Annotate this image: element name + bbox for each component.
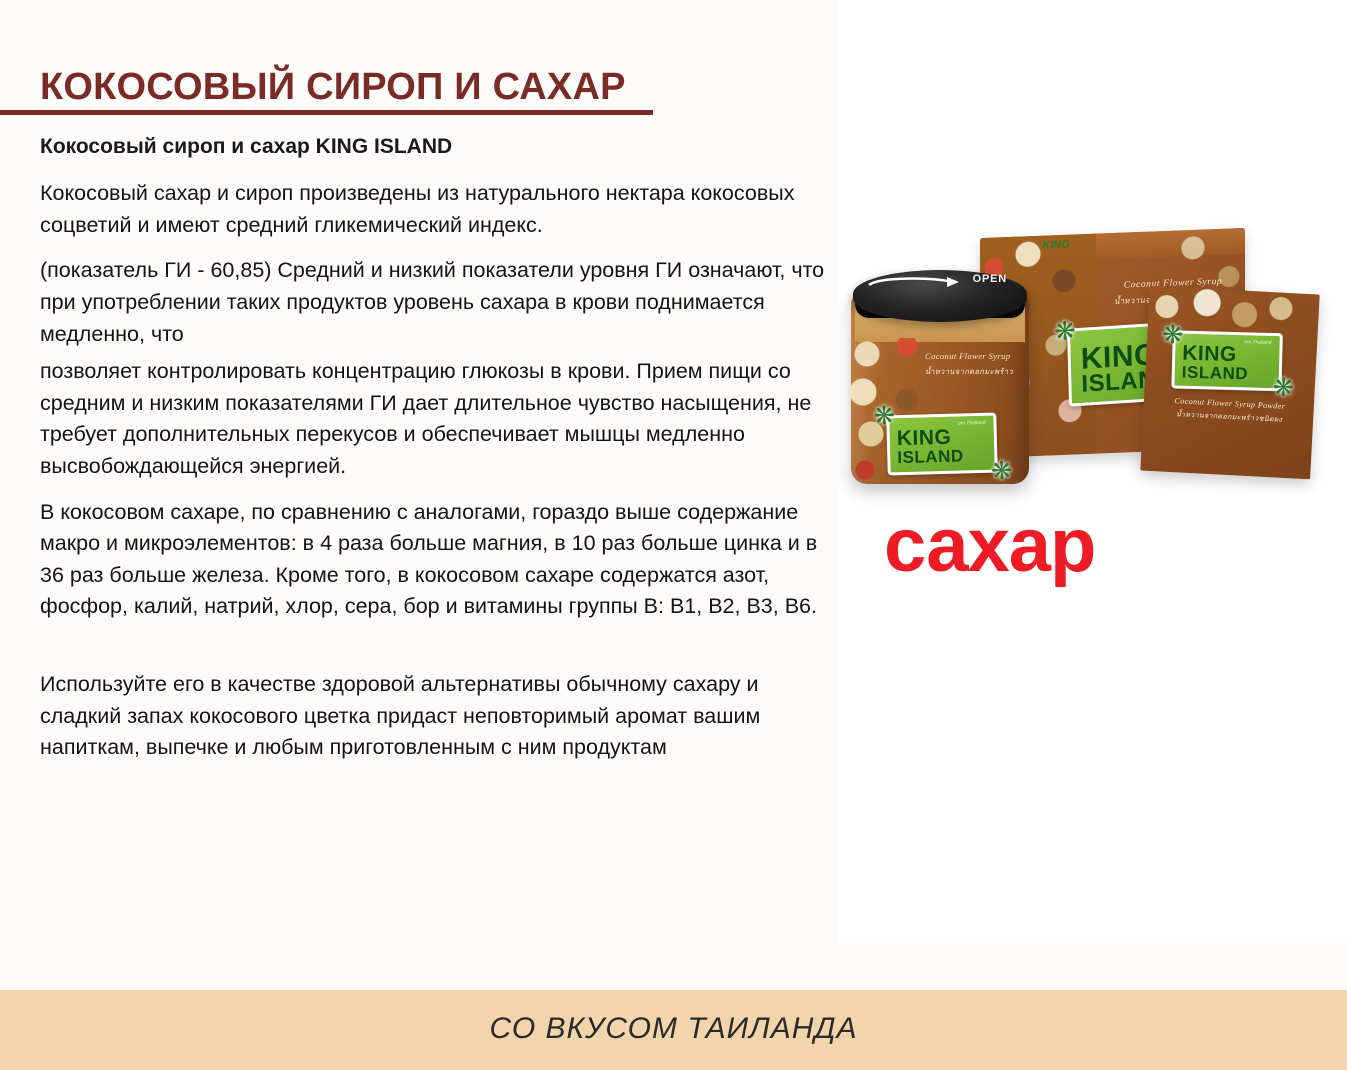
jar-label-brand-line2: ISLAND [897,447,964,466]
leaf-icon: ❋ [991,457,1013,484]
lead-heading: Кокосовый сироп и сахар KING ISLAND [40,133,830,160]
paragraph-2: (показатель ГИ - 60,85) Средний и низкий… [40,255,830,350]
body-copy: Кокосовый сироп и сахар KING ISLAND Коко… [40,133,830,770]
jar-king-island-label: от Thailand KING ISLAND ❋ ❋ [886,413,998,476]
jar-lid-open-text: OPEN [973,273,1007,285]
jar-body: Coconut Flower Syrup น้ำหวานจากดอกมะพร้า… [851,294,1029,484]
slide-root: КОКОСОВЫЙ СИРОП И САХАР Кокосовый сироп … [0,0,1347,1070]
paragraph-4: В кокосовом сахаре, по сравнению с анало… [40,497,830,623]
page-title: КОКОСОВЫЙ СИРОП И САХАР [0,66,700,109]
paragraph-3: позволяет контролировать концентрацию гл… [40,356,830,482]
leaf-icon: ❋ [1161,321,1183,348]
leaf-icon: ❋ [1272,374,1294,401]
product-sachet: от Thailand KING ISLAND ❋ ❋ Coconut Flow… [1140,286,1319,480]
product-photo: KING Coconut Flower Syrup Powder น้ำหวาน… [845,228,1325,518]
sachet-label-micro-text: от Thailand [1244,339,1272,346]
sachet-label-brand-line2: ISLAND [1182,364,1249,383]
carton-top-brand-script: KING [1026,238,1086,258]
title-block: КОКОСОВЫЙ СИРОП И САХАР [0,66,700,109]
rotate-arrow-icon [867,276,963,288]
sachet-king-island-label: от Thailand KING ISLAND ❋ ❋ [1171,330,1282,391]
footer-tagline: СО ВКУСОМ ТАИЛАНДА [0,1012,1347,1046]
jar-script-text: Coconut Flower Syrup [925,350,1029,363]
sachet-label-brand-line1: KING [1182,343,1237,365]
paragraph-5: Используйте его в качестве здоровой альт… [40,669,830,764]
leaf-icon: ❋ [873,402,895,429]
jar-label-brand-line1: KING [897,427,952,449]
jar-label-micro-text: от Thailand [958,420,986,427]
product-jar: Coconut Flower Syrup น้ำหวานจากดอกมะพร้า… [851,254,1029,484]
title-underline-rule [0,110,653,115]
callout-sugar-label: сахар [884,508,1095,584]
paragraph-1: Кокосовый сахар и сироп произведены из н… [40,178,830,241]
jar-thai-text: น้ำหวานจากดอกมะพร้าว [925,366,1029,378]
leaf-icon: ❋ [1054,317,1076,344]
